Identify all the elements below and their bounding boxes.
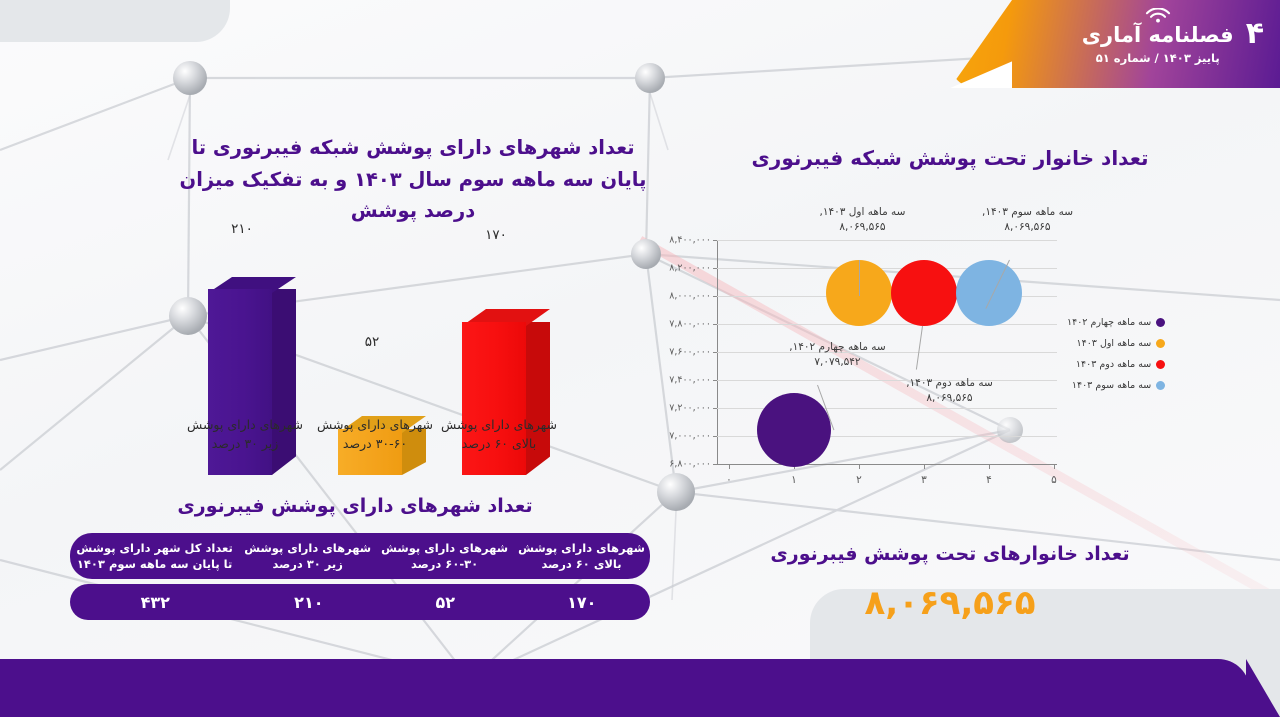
bar-label-2: شهرهای دارای پوشش بالای ۶۰ درصد bbox=[424, 415, 574, 454]
bubble-q2-1403[interactable] bbox=[891, 260, 957, 326]
leader-line-q1 bbox=[859, 260, 860, 296]
bubble-chart-title: تعداد خانوار تحت پوشش شبکه فیبرنوری bbox=[700, 143, 1200, 173]
table-header-cell-2: شهرهای دارای پوشش زیر ۳۰ درصد bbox=[239, 540, 376, 572]
bar-label-0-line1: شهرهای دارای پوشش bbox=[170, 415, 320, 434]
legend-item-q1-1403[interactable]: سه ماهه اول ۱۴۰۳ bbox=[1067, 338, 1165, 349]
bubble-chart: ۸,۴۰۰,۰۰۰ ۸,۲۰۰,۰۰۰ ۸,۰۰۰,۰۰۰ ۷,۸۰۰,۰۰۰ … bbox=[655, 205, 1125, 495]
bubble-note-q3-line1: سه ماهه سوم ۱۴۰۳, bbox=[955, 205, 1100, 220]
bubble-note-q2-line1: سه ماهه دوم ۱۴۰۳, bbox=[877, 376, 1022, 391]
bottom-purple-bar bbox=[0, 659, 1250, 717]
x-tick-label: ۰ bbox=[726, 474, 732, 486]
x-tick-mark bbox=[989, 465, 990, 469]
legend-dot-icon bbox=[1156, 360, 1165, 369]
x-tick-label: ۵ bbox=[1051, 474, 1057, 486]
y-tick-mark bbox=[713, 380, 717, 381]
bar-label-0-line2: زیر ۳۰ درصد bbox=[170, 434, 320, 453]
x-tick-mark bbox=[859, 465, 860, 469]
bubble-note-q3-1403: سه ماهه سوم ۱۴۰۳, ۸,۰۶۹,۵۶۵ bbox=[955, 205, 1100, 235]
legend-label: سه ماهه اول ۱۴۰۳ bbox=[1077, 338, 1152, 349]
coverage-table: شهرهای دارای پوشش بالای ۶۰ درصد شهرهای د… bbox=[70, 533, 650, 620]
bubble-note-q1-1403: سه ماهه اول ۱۴۰۳, ۸,۰۶۹,۵۶۵ bbox=[790, 205, 935, 235]
table-header-row: شهرهای دارای پوشش بالای ۶۰ درصد شهرهای د… bbox=[70, 533, 650, 579]
households-value: ۸,۰۶۹,۵۶۵ bbox=[705, 583, 1195, 623]
bubble-note-q3-line2: ۸,۰۶۹,۵۶۵ bbox=[955, 220, 1100, 235]
y-tick-mark bbox=[713, 268, 717, 269]
y-tick-mark bbox=[713, 352, 717, 353]
x-tick-label: ۱ bbox=[791, 474, 797, 486]
gridline bbox=[717, 240, 1057, 241]
legend-item-q4-1402[interactable]: سه ماهه چهارم ۱۴۰۲ bbox=[1067, 317, 1165, 328]
table-value-cell-2: ۲۱۰ bbox=[241, 593, 377, 612]
x-tick-label: ۳ bbox=[921, 474, 927, 486]
brand-title: فصلنامه آماری bbox=[1082, 24, 1234, 47]
y-tick-label: ۷,۸۰۰,۰۰۰ bbox=[669, 319, 711, 330]
legend-dot-icon bbox=[1156, 339, 1165, 348]
x-tick-mark bbox=[924, 465, 925, 469]
table-header-cell-1: شهرهای دارای پوشش ۳۰-۶۰ درصد bbox=[376, 540, 513, 572]
bubble-note-q1-line2: ۸,۰۶۹,۵۶۵ bbox=[790, 220, 935, 235]
table-title: تعداد شهرهای دارای پوشش فیبرنوری bbox=[70, 495, 640, 517]
y-tick-label: ۷,۶۰۰,۰۰۰ bbox=[669, 347, 711, 358]
households-title: تعداد خانوارهای تحت پوشش فیبرنوری bbox=[705, 543, 1195, 565]
bar-label-2-line1: شهرهای دارای پوشش bbox=[424, 415, 574, 434]
y-tick-label: ۸,۰۰۰,۰۰۰ bbox=[669, 291, 711, 302]
bubble-chart-legend: سه ماهه چهارم ۱۴۰۲ سه ماهه اول ۱۴۰۳ سه م… bbox=[1067, 317, 1165, 391]
y-tick-label: ۶,۸۰۰,۰۰۰ bbox=[669, 459, 711, 470]
y-tick-mark bbox=[713, 464, 717, 465]
y-tick-label: ۸,۲۰۰,۰۰۰ bbox=[669, 263, 711, 274]
bubble-q4-1402[interactable] bbox=[757, 393, 831, 467]
table-value-cell-1: ۵۲ bbox=[377, 593, 513, 612]
infographic-page: ۴ فصلنامه آماری پاییز ۱۴۰۳ / شماره ۵۱ تع… bbox=[0, 0, 1280, 717]
x-axis-line bbox=[717, 464, 1057, 465]
bubble-q3-1403[interactable] bbox=[956, 260, 1022, 326]
table-header-cell-3: تعداد کل شهر دارای پوشش تا پایان سه ماهه… bbox=[70, 540, 239, 572]
legend-item-q3-1403[interactable]: سه ماهه سوم ۱۴۰۳ bbox=[1067, 380, 1165, 391]
table-value-cell-0: ۱۷۰ bbox=[514, 593, 650, 612]
x-tick-mark bbox=[1054, 465, 1055, 469]
y-tick-mark bbox=[713, 408, 717, 409]
leader-line-q2 bbox=[916, 326, 923, 370]
legend-label: سه ماهه چهارم ۱۴۰۲ bbox=[1067, 317, 1151, 328]
y-tick-mark bbox=[713, 436, 717, 437]
gridline bbox=[717, 324, 1057, 325]
bubble-note-q2-1403: سه ماهه دوم ۱۴۰۳, ۸,۰۶۹,۵۶۵ bbox=[877, 376, 1022, 406]
top-left-panel bbox=[0, 0, 230, 42]
legend-dot-icon bbox=[1156, 318, 1165, 327]
bar-label-0: شهرهای دارای پوشش زیر ۳۰ درصد bbox=[170, 415, 320, 454]
legend-item-q2-1403[interactable]: سه ماهه دوم ۱۴۰۳ bbox=[1067, 359, 1165, 370]
y-tick-mark bbox=[713, 240, 717, 241]
bubble-note-q4-line1: سه ماهه چهارم ۱۴۰۲, bbox=[765, 340, 910, 355]
x-tick-label: ۲ bbox=[856, 474, 862, 486]
bubble-note-q2-line2: ۸,۰۶۹,۵۶۵ bbox=[877, 391, 1022, 406]
table-header-cell-0: شهرهای دارای پوشش بالای ۶۰ درصد bbox=[513, 540, 650, 572]
header-content: ۴ فصلنامه آماری پاییز ۱۴۰۳ / شماره ۵۱ bbox=[1082, 8, 1264, 65]
legend-label: سه ماهه سوم ۱۴۰۳ bbox=[1072, 380, 1151, 391]
issue-subtitle: پاییز ۱۴۰۳ / شماره ۵۱ bbox=[1082, 51, 1234, 65]
bubble-note-q4-1402: سه ماهه چهارم ۱۴۰۲, ۷,۰۷۹,۵۴۲ bbox=[765, 340, 910, 370]
bubble-note-q4-line2: ۷,۰۷۹,۵۴۲ bbox=[765, 355, 910, 370]
x-tick-mark bbox=[729, 465, 730, 469]
x-tick-label: ۴ bbox=[986, 474, 992, 486]
table-value-cell-3: ۴۳۲ bbox=[70, 593, 241, 612]
issue-number: ۴ bbox=[1246, 19, 1264, 55]
y-tick-mark bbox=[713, 296, 717, 297]
y-tick-label: ۷,۴۰۰,۰۰۰ bbox=[669, 375, 711, 386]
legend-label: سه ماهه دوم ۱۴۰۳ bbox=[1076, 359, 1151, 370]
y-tick-label: ۷,۰۰۰,۰۰۰ bbox=[669, 431, 711, 442]
y-tick-label: ۸,۴۰۰,۰۰۰ bbox=[669, 235, 711, 246]
bar-label-2-line2: بالای ۶۰ درصد bbox=[424, 434, 574, 453]
wifi-icon bbox=[1145, 8, 1171, 23]
bubble-note-q1-line1: سه ماهه اول ۱۴۰۳, bbox=[790, 205, 935, 220]
bar-value-1: ۵۲ bbox=[327, 334, 417, 350]
bar-value-0: ۲۱۰ bbox=[197, 221, 287, 237]
bar-value-2: ۱۷۰ bbox=[451, 227, 541, 243]
y-tick-label: ۷,۲۰۰,۰۰۰ bbox=[669, 403, 711, 414]
y-tick-mark bbox=[713, 324, 717, 325]
legend-dot-icon bbox=[1156, 381, 1165, 390]
bar-chart-title: تعداد شهرهای دارای پوشش شبکه فیبرنوری تا… bbox=[178, 132, 648, 227]
table-value-row: ۱۷۰ ۵۲ ۲۱۰ ۴۳۲ bbox=[70, 584, 650, 620]
header-brand-block: فصلنامه آماری پاییز ۱۴۰۳ / شماره ۵۱ bbox=[1082, 8, 1234, 65]
bar-chart: ۲۱۰ شهرهای دارای پوشش زیر ۳۰ درصد ۵۲ شهر… bbox=[150, 225, 570, 475]
